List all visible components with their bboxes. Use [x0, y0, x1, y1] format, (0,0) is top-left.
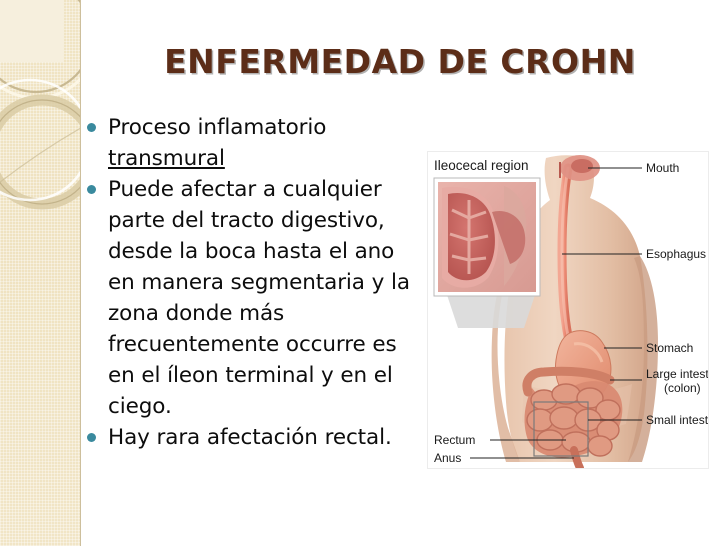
bullet-dot-icon [87, 123, 96, 132]
label-rectum: Rectum [434, 433, 475, 447]
list-item: Proceso inflamatorio transmural [84, 112, 424, 174]
label-large-intestine: Large intestine [646, 367, 708, 381]
bullet-text-underlined: transmural [108, 146, 225, 171]
decorative-side-band [0, 0, 81, 546]
bullet-text: Puede afectar a cualquier parte del trac… [108, 177, 410, 419]
bullet-list: Proceso inflamatorio transmural Puede af… [84, 112, 424, 453]
label-stomach: Stomach [646, 341, 693, 355]
label-small-intestine: Small intestine [646, 413, 708, 427]
label-mouth: Mouth [646, 161, 679, 175]
slide-title: ENFERMEDAD DE CROHN [100, 42, 700, 81]
list-item: Puede afectar a cualquier parte del trac… [84, 174, 424, 422]
digestive-tract-illustration: Ileocecal region Mouth Esophagus Stomach… [428, 152, 708, 468]
bullet-dot-icon [87, 433, 96, 442]
digestive-tract-figure: Ileocecal region Mouth Esophagus Stomach… [428, 152, 708, 468]
list-item: Hay rara afectación rectal. [84, 422, 424, 453]
presentation-slide: ENFERMEDAD DE CROHN Proceso inflamatorio… [0, 0, 728, 546]
bullet-text: Hay rara afectación rectal. [108, 425, 392, 450]
bullet-text: Proceso inflamatorio [108, 115, 326, 140]
band-rings-graphic [0, 0, 80, 546]
label-large-intestine-colon: (colon) [664, 381, 701, 395]
label-anus: Anus [434, 451, 461, 465]
bullet-dot-icon [87, 185, 96, 194]
label-ileocecal-region: Ileocecal region [434, 158, 529, 173]
label-esophagus: Esophagus [646, 247, 706, 261]
